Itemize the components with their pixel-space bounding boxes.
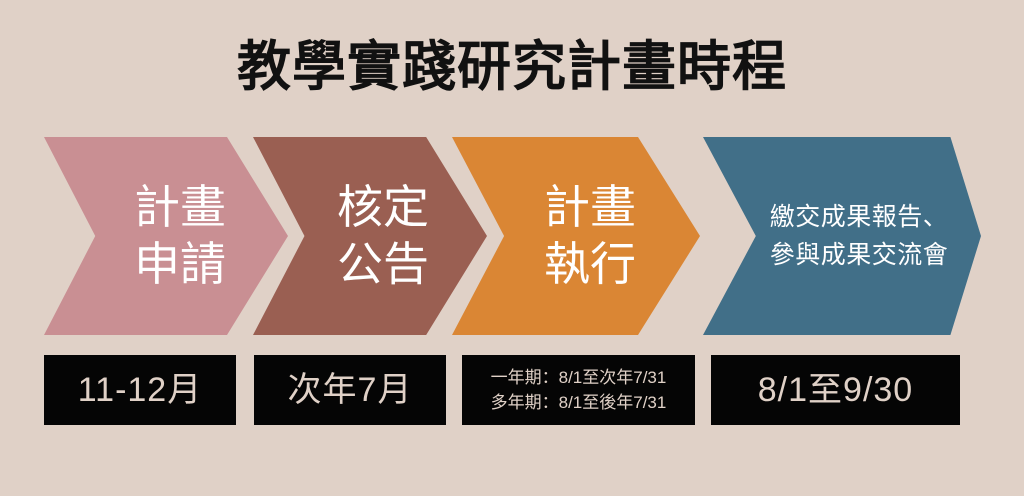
caption-box-execution: 一年期：8/1至次年7/31 多年期：8/1至後年7/31 bbox=[462, 355, 695, 425]
caption-box-approval: 次年7月 bbox=[254, 355, 446, 425]
chevron-stage-approval-label: 核定 公告 bbox=[311, 179, 429, 293]
chevron-stage-apply[interactable]: 計畫 申請 bbox=[44, 137, 288, 335]
chevron-stage-execution[interactable]: 計畫 執行 bbox=[452, 137, 700, 335]
caption-report-text: 8/1至9/30 bbox=[758, 370, 913, 410]
caption-box-apply: 11-12月 bbox=[44, 355, 236, 425]
timeline-infographic: 教學實踐研究計畫時程 計畫 申請 核定 公告 計畫 執行 繳交成果報告、 參與成… bbox=[0, 0, 1024, 496]
chevron-stage-report[interactable]: 繳交成果報告、 參與成果交流會 bbox=[703, 137, 981, 335]
caption-execution-text: 一年期：8/1至次年7/31 多年期：8/1至後年7/31 bbox=[491, 365, 667, 415]
caption-box-report: 8/1至9/30 bbox=[711, 355, 960, 425]
caption-approval-text: 次年7月 bbox=[288, 370, 413, 410]
chevron-stage-apply-label: 計畫 申請 bbox=[106, 179, 226, 293]
chevron-stage-report-label: 繳交成果報告、 參與成果交流會 bbox=[736, 198, 949, 274]
caption-apply-text: 11-12月 bbox=[78, 370, 202, 410]
chevron-stage-execution-label: 計畫 執行 bbox=[516, 179, 636, 293]
page-title: 教學實踐研究計畫時程 bbox=[0, 36, 1024, 98]
chevron-stage-approval[interactable]: 核定 公告 bbox=[253, 137, 487, 335]
chevron-process-band: 計畫 申請 核定 公告 計畫 執行 繳交成果報告、 參與成果交流會 bbox=[0, 137, 1024, 335]
